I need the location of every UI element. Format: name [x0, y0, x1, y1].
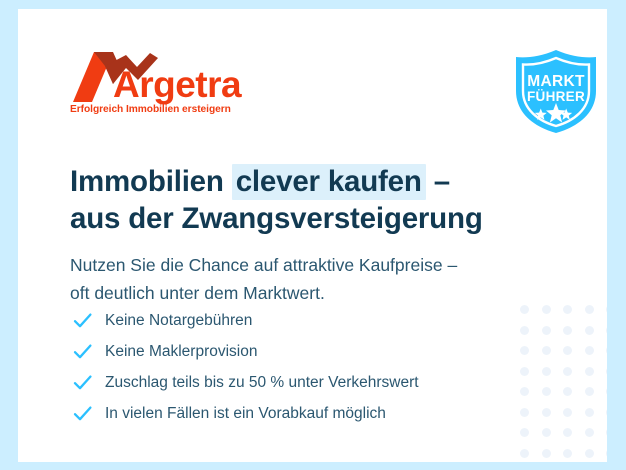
- dot: [563, 387, 572, 396]
- benefits-list: Keine Notargebühren Keine Maklerprovisio…: [72, 305, 542, 429]
- dot: [585, 367, 594, 376]
- dot: [563, 449, 572, 458]
- dot: [520, 428, 529, 437]
- list-item-label: Zuschlag teils bis zu 50 % unter Verkehr…: [105, 373, 419, 393]
- list-item: Zuschlag teils bis zu 50 % unter Verkehr…: [72, 367, 542, 398]
- dot: [606, 387, 607, 396]
- dot: [585, 326, 594, 335]
- headline-highlight: clever kaufen: [232, 164, 426, 200]
- dot: [520, 449, 529, 458]
- headline-suffix: –: [426, 165, 450, 198]
- dot: [585, 449, 594, 458]
- list-item-label: Keine Notargebühren: [105, 311, 252, 331]
- check-icon: [72, 341, 93, 362]
- dot: [606, 305, 607, 314]
- dot: [606, 449, 607, 458]
- argetra-tagline: Erfolgreich Immobilien ersteigern: [70, 104, 231, 115]
- dot: [563, 326, 572, 335]
- list-item-label: In vielen Fällen ist ein Vorabkauf mögli…: [105, 404, 386, 424]
- list-item: Keine Notargebühren: [72, 305, 542, 336]
- headline-prefix: Immobilien: [70, 165, 232, 198]
- list-item-label: Keine Maklerprovision: [105, 342, 258, 362]
- dot: [563, 346, 572, 355]
- dot: [563, 408, 572, 417]
- dot: [542, 326, 551, 335]
- dot: [585, 346, 594, 355]
- dot: [585, 408, 594, 417]
- argetra-wordmark: Argetra: [113, 64, 242, 105]
- dot: [542, 449, 551, 458]
- dot: [585, 428, 594, 437]
- market-leader-badge: MARKT FÜHRER: [510, 45, 602, 137]
- badge-line1: MARKT: [527, 73, 585, 90]
- dot: [563, 428, 572, 437]
- dot: [585, 305, 594, 314]
- dot: [542, 428, 551, 437]
- dot: [542, 387, 551, 396]
- list-item: In vielen Fällen ist ein Vorabkauf mögli…: [72, 398, 542, 429]
- dot: [606, 408, 607, 417]
- dot: [606, 428, 607, 437]
- argetra-logo-svg: Argetra Erfolgreich Immobilien ersteiger…: [70, 50, 270, 120]
- argetra-logo: Argetra Erfolgreich Immobilien ersteiger…: [70, 50, 270, 120]
- dot: [606, 326, 607, 335]
- subtitle-line2: oft deutlich unter dem Marktwert.: [70, 279, 570, 307]
- subtitle-line1: Nutzen Sie die Chance auf attraktive Kau…: [70, 251, 570, 279]
- banner-card: Argetra Erfolgreich Immobilien ersteiger…: [18, 9, 607, 462]
- badge-line2: FÜHRER: [527, 89, 585, 104]
- headline-line1: Immobilien clever kaufen –: [70, 164, 450, 200]
- headline: Immobilien clever kaufen – aus der Zwang…: [70, 163, 570, 237]
- dot: [542, 408, 551, 417]
- check-icon: [72, 403, 93, 424]
- check-icon: [72, 372, 93, 393]
- list-item: Keine Maklerprovision: [72, 336, 542, 367]
- dot: [606, 367, 607, 376]
- promo-banner: Argetra Erfolgreich Immobilien ersteiger…: [0, 0, 626, 470]
- dot: [542, 346, 551, 355]
- dot: [542, 367, 551, 376]
- dot: [563, 367, 572, 376]
- shield-icon: MARKT FÜHRER: [510, 45, 602, 137]
- dot: [606, 346, 607, 355]
- headline-line2: aus der Zwangsversteigerung: [70, 200, 570, 237]
- subtitle: Nutzen Sie die Chance auf attraktive Kau…: [70, 251, 570, 307]
- check-icon: [72, 310, 93, 331]
- dot: [585, 387, 594, 396]
